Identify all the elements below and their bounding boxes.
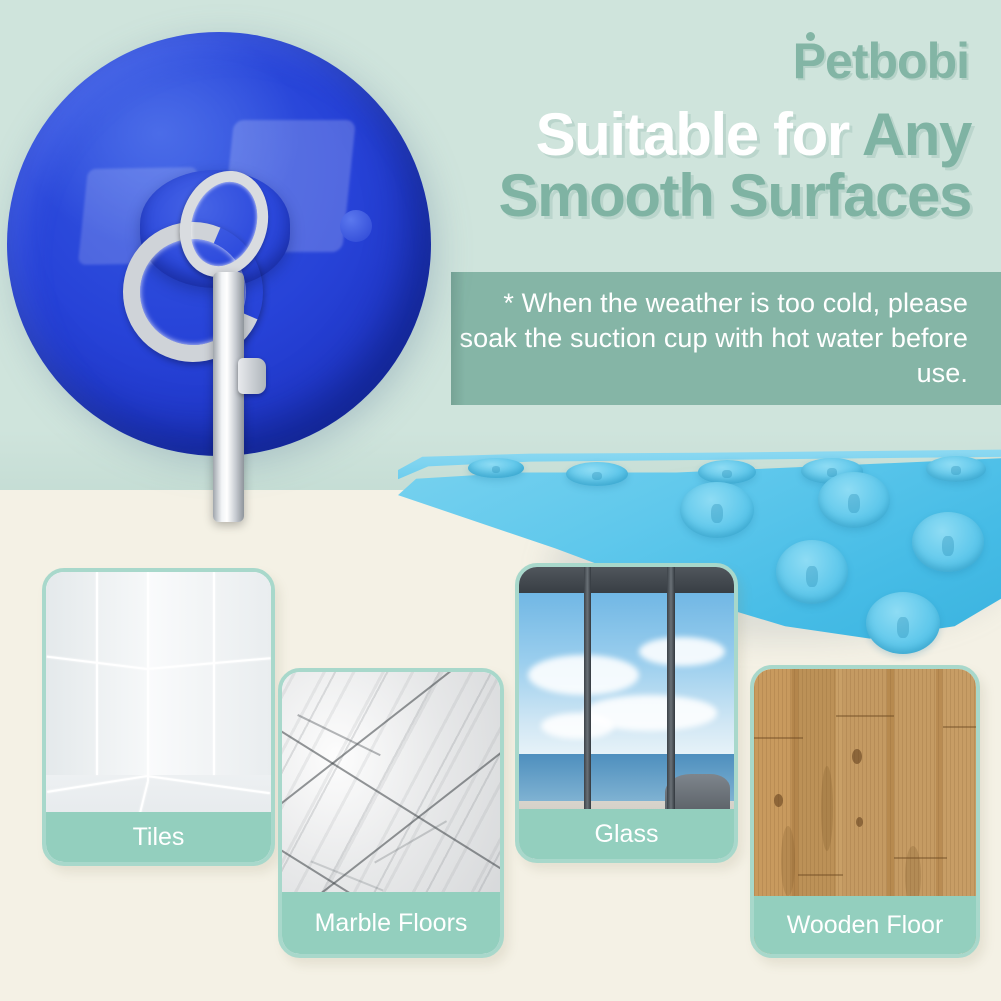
tile-wall-right — [147, 572, 271, 775]
headline-green-part: Any — [862, 101, 971, 168]
glass-door-header — [519, 567, 734, 593]
surface-label-text: Marble Floors — [315, 911, 468, 936]
surface-label-text: Tiles — [133, 825, 185, 850]
suction-cup-hero-image — [0, 10, 455, 500]
suction-cup-nub — [340, 210, 372, 242]
mat-suction-cup — [566, 462, 628, 486]
mat-suction-cup — [926, 456, 986, 482]
carabiner-latch — [238, 358, 266, 394]
wood-grain — [781, 826, 795, 896]
surface-card-label: Tiles — [46, 812, 271, 862]
mat-suction-cup — [680, 482, 754, 538]
headline-white-part: Suitable for — [536, 101, 849, 168]
note-text: * When the weather is too cold, please s… — [451, 286, 1001, 391]
mat-suction-cup — [468, 458, 524, 478]
mat-suction-cup — [818, 472, 890, 528]
wood-grain — [821, 766, 833, 851]
headline-line-2: Smooth Surfaces — [499, 165, 971, 226]
mat-suction-cup — [776, 540, 848, 604]
mat-suction-cup — [912, 512, 984, 572]
plank-seam — [798, 874, 842, 876]
plank-seam — [836, 715, 894, 717]
tile-grout-line — [96, 572, 98, 775]
surface-card-label: Marble Floors — [282, 892, 500, 954]
surface-card-label: Wooden Floor — [754, 896, 976, 954]
headline-line-1: Suitable for Any — [499, 104, 971, 165]
marble-seam — [278, 668, 504, 820]
surface-label-text: Glass — [595, 822, 659, 847]
surface-card-tiles[interactable]: Tiles — [42, 568, 275, 866]
wood-knot — [852, 749, 862, 764]
brand-name: Petbobi — [793, 33, 969, 89]
brand-logo: Petbobi — [793, 36, 969, 86]
tile-grout-line — [213, 572, 215, 775]
wood-knot — [856, 817, 863, 827]
headline: Suitable for Any Smooth Surfaces — [499, 104, 971, 226]
surface-card-marble[interactable]: Marble Floors — [278, 668, 504, 958]
paw-dot-icon — [806, 32, 815, 41]
tile-grout-line — [147, 572, 149, 781]
surface-card-wooden[interactable]: Wooden Floor — [750, 665, 980, 958]
surface-label-text: Wooden Floor — [787, 913, 944, 938]
marble-seam — [278, 717, 504, 892]
wood-knot — [774, 794, 783, 807]
surface-card-label: Glass — [519, 809, 734, 859]
cloud-shape — [541, 713, 614, 739]
carabiner-shaft — [213, 272, 244, 522]
mat-suction-cup — [866, 592, 940, 654]
mat-suction-cup — [698, 460, 756, 484]
plank-seam — [754, 737, 803, 739]
plank-seam — [943, 726, 976, 728]
surface-card-glass[interactable]: Glass — [515, 563, 738, 863]
plank-seam — [894, 857, 947, 859]
note-panel: * When the weather is too cold, please s… — [451, 272, 1001, 405]
product-feature-banner: Petbobi Suitable for Any Smooth Surfaces… — [0, 0, 1001, 1001]
